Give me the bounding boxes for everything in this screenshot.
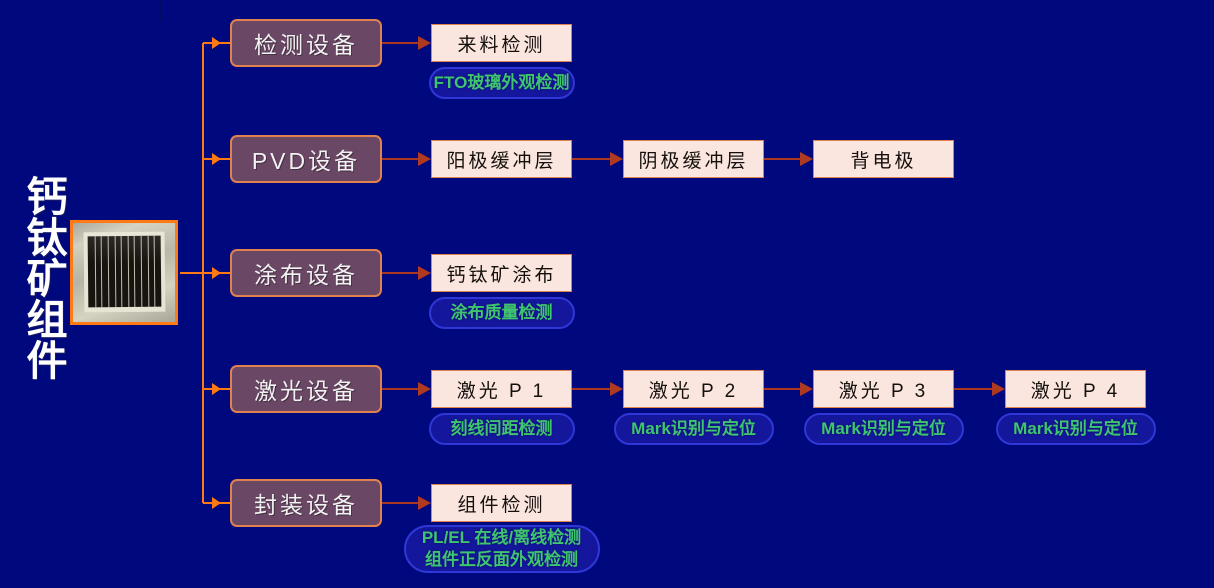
flow-arrow-line: [382, 272, 418, 274]
flow-arrow-head: [418, 266, 431, 280]
perovskite-module-photo: [70, 220, 178, 325]
inspection-badge-3-1[interactable]: Mark识别与定位: [614, 413, 774, 445]
inspection-badge-3-3[interactable]: Mark识别与定位: [996, 413, 1156, 445]
tree-input-stem: [180, 272, 204, 274]
tree-branch-arrow: [212, 497, 221, 509]
equipment-box-1[interactable]: PVD设备: [230, 135, 382, 183]
page-title: 钙钛矿组件: [12, 148, 68, 406]
flow-arrow-line: [572, 388, 610, 390]
module-scribe-line: [127, 236, 129, 308]
inspection-badge-line: Mark识别与定位: [631, 418, 756, 440]
inspection-badge-line: 组件正反面外观检测: [425, 549, 578, 571]
module-scribe-line: [94, 236, 96, 308]
flow-arrow-line: [382, 158, 418, 160]
background-seam-artifact: [160, 0, 161, 22]
tree-branch-arrow: [212, 383, 221, 395]
process-box-3-2[interactable]: 激光 P 3: [813, 370, 954, 408]
process-box-3-1[interactable]: 激光 P 2: [623, 370, 764, 408]
inspection-badge-line: FTO玻璃外观检测: [434, 72, 570, 94]
module-scribe-line: [134, 236, 136, 308]
inspection-badge-line: Mark识别与定位: [821, 418, 946, 440]
tree-branch-arrow: [212, 37, 221, 49]
flow-arrow-head: [418, 36, 431, 50]
flow-arrow-line: [764, 388, 800, 390]
inspection-badge-line: Mark识别与定位: [1013, 418, 1138, 440]
module-scribe-line: [154, 236, 156, 308]
flow-arrow-head: [610, 152, 623, 166]
equipment-box-0[interactable]: 检测设备: [230, 19, 382, 67]
module-scribe-line: [108, 236, 110, 308]
flow-arrow-head: [610, 382, 623, 396]
flow-arrow-head: [418, 152, 431, 166]
process-box-1-0[interactable]: 阳极缓冲层: [431, 140, 572, 178]
tree-branch-arrow: [212, 153, 221, 165]
inspection-badge-0-0[interactable]: FTO玻璃外观检测: [429, 67, 575, 99]
flow-arrow-line: [382, 388, 418, 390]
equipment-box-2[interactable]: 涂布设备: [230, 249, 382, 297]
module-scribe-line: [147, 236, 149, 308]
inspection-badge-2-0[interactable]: 涂布质量检测: [429, 297, 575, 329]
flow-arrow-head: [800, 152, 813, 166]
flow-arrow-head: [800, 382, 813, 396]
flow-arrow-line: [954, 388, 992, 390]
process-box-1-1[interactable]: 阴极缓冲层: [623, 140, 764, 178]
process-box-4-0[interactable]: 组件检测: [431, 484, 572, 522]
inspection-badge-line: 涂布质量检测: [451, 302, 553, 324]
process-box-1-2[interactable]: 背电极: [813, 140, 954, 178]
flow-arrow-head: [418, 496, 431, 510]
module-scribe-line: [121, 236, 123, 308]
inspection-badge-3-0[interactable]: 刻线间距检测: [429, 413, 575, 445]
inspection-badge-line: PL/EL 在线/离线检测: [422, 527, 581, 549]
tree-branch-arrow: [212, 267, 221, 279]
flow-arrow-line: [764, 158, 800, 160]
module-cell-area: [88, 236, 162, 308]
flow-arrow-head: [418, 382, 431, 396]
module-scribe-line: [114, 236, 116, 308]
module-scribe-line: [101, 236, 103, 308]
diagram-canvas: 钙钛矿组件 检测设备来料检测FTO玻璃外观检测PVD设备阳极缓冲层阴极缓冲层背电…: [0, 0, 1214, 588]
inspection-badge-3-2[interactable]: Mark识别与定位: [804, 413, 964, 445]
process-box-0-0[interactable]: 来料检测: [431, 24, 572, 62]
flow-arrow-line: [382, 502, 418, 504]
flow-arrow-head: [992, 382, 1005, 396]
equipment-box-3[interactable]: 激光设备: [230, 365, 382, 413]
module-scribe-line: [141, 236, 143, 308]
flow-arrow-line: [572, 158, 610, 160]
process-box-3-0[interactable]: 激光 P 1: [431, 370, 572, 408]
module-glass: [84, 232, 166, 313]
process-box-3-3[interactable]: 激光 P 4: [1005, 370, 1146, 408]
inspection-badge-line: 刻线间距检测: [451, 418, 553, 440]
process-box-2-0[interactable]: 钙钛矿涂布: [431, 254, 572, 292]
inspection-badge-4-0[interactable]: PL/EL 在线/离线检测组件正反面外观检测: [404, 525, 600, 573]
flow-arrow-line: [382, 42, 418, 44]
equipment-box-4[interactable]: 封装设备: [230, 479, 382, 527]
